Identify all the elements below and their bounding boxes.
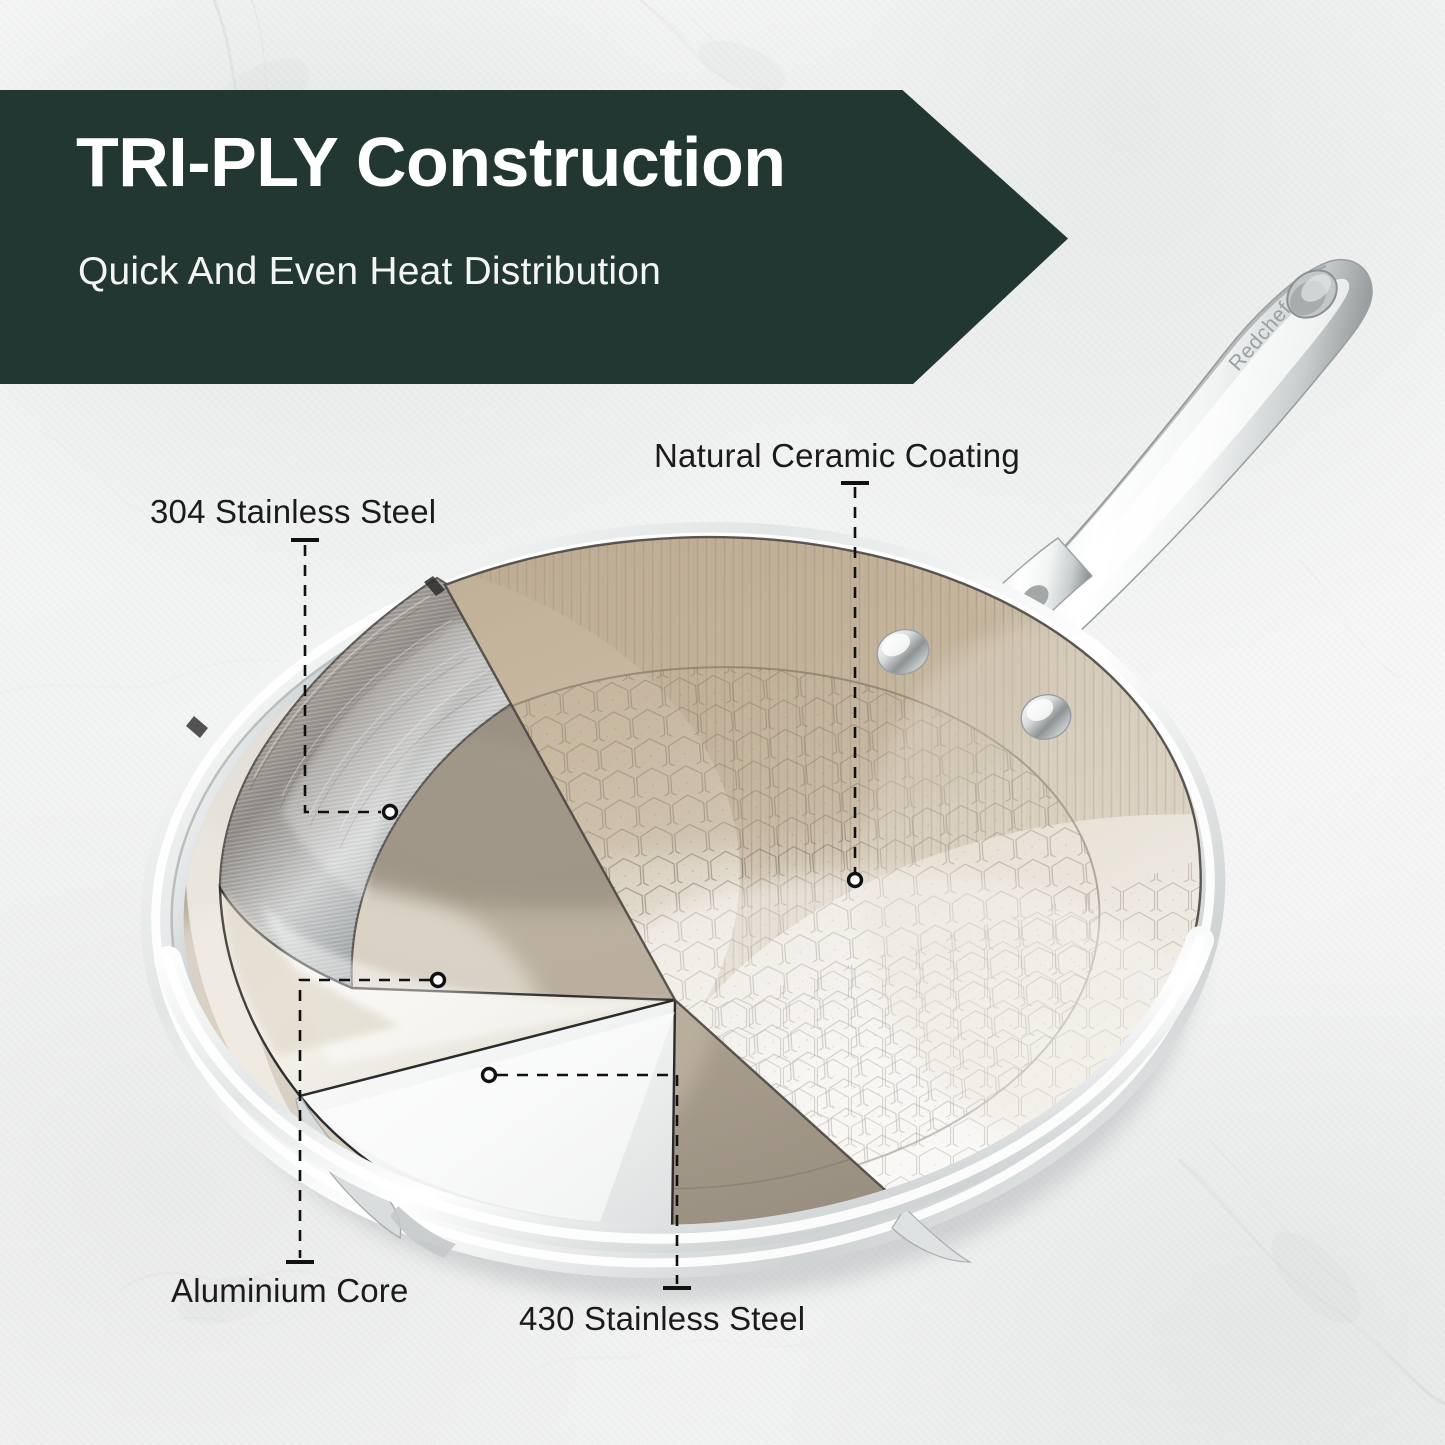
- callout-label-430-stainless-steel: 430 Stainless Steel: [519, 1300, 805, 1338]
- callout-label-304-stainless-steel: 304 Stainless Steel: [150, 493, 436, 531]
- callout-label-natural-ceramic-coating: Natural Ceramic Coating: [654, 437, 1020, 475]
- callout-label-aluminium-core: Aluminium Core: [171, 1272, 409, 1310]
- banner-subtitle: Quick And Even Heat Distribution: [78, 250, 661, 294]
- banner-title: TRI-PLY Construction: [76, 126, 785, 200]
- infographic-canvas: Redchef: [0, 0, 1445, 1445]
- header-banner: TRI-PLY Construction Quick And Even Heat…: [0, 90, 1068, 384]
